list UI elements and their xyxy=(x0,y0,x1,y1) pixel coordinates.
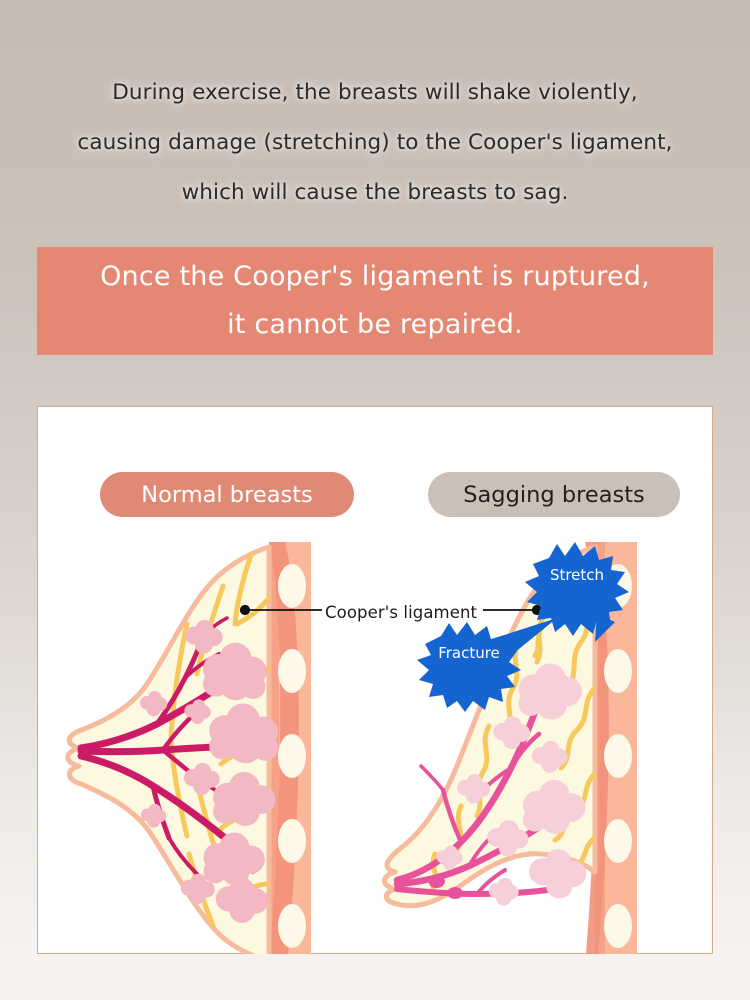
banner-line-2: it cannot be repaired. xyxy=(227,301,523,349)
normal-breast-illustration xyxy=(68,542,311,954)
label-normal-breasts: Normal breasts xyxy=(100,472,354,517)
label-sagging-breasts: Sagging breasts xyxy=(428,472,680,517)
intro-paragraph: During exercise, the breasts will shake … xyxy=(0,68,750,218)
banner-line-1: Once the Cooper's ligament is ruptured, xyxy=(100,253,650,301)
cooper-ligament-annotation: Cooper's ligament xyxy=(325,603,477,622)
intro-line-1: During exercise, the breasts will shake … xyxy=(0,68,750,118)
fracture-callout-label: Fracture xyxy=(438,644,500,662)
warning-banner: Once the Cooper's ligament is ruptured, … xyxy=(37,247,713,355)
intro-line-3: which will cause the breasts to sag. xyxy=(0,168,750,218)
stretch-callout-label: Stretch xyxy=(550,566,604,584)
intro-line-2: causing damage (stretching) to the Coope… xyxy=(0,118,750,168)
